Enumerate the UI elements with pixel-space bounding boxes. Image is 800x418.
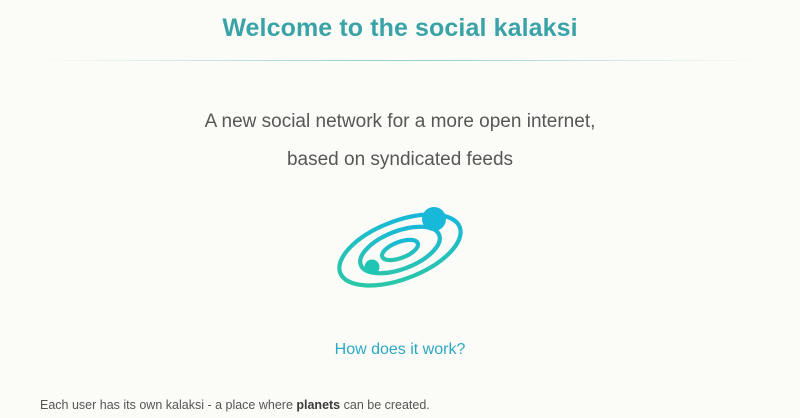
small-planet-icon — [365, 260, 380, 275]
header-divider — [30, 60, 770, 61]
subtitle: A new social network for a more open int… — [0, 103, 800, 179]
large-planet-icon — [422, 207, 446, 231]
blurb-prefix: Each user has its own kalaksi - a place … — [40, 398, 296, 412]
orbit-ring-outer — [330, 200, 470, 300]
logo-container — [0, 198, 800, 302]
kalaksi-description: Each user has its own kalaksi - a place … — [40, 396, 760, 414]
howto-container: How does it work? — [0, 341, 800, 359]
how-does-it-work-link[interactable]: How does it work? — [335, 341, 466, 358]
orbit-ring-inner — [379, 236, 420, 265]
blurb-suffix: can be created. — [340, 398, 430, 412]
subtitle-line-1: A new social network for a more open int… — [0, 103, 800, 141]
page-title: Welcome to the social kalaksi — [0, 12, 800, 44]
blurb-emphasis: planets — [296, 398, 340, 412]
welcome-page: Welcome to the social kalaksi A new soci… — [0, 0, 800, 418]
subtitle-line-2: based on syndicated feeds — [0, 141, 800, 179]
kalaksi-galaxy-icon — [325, 198, 475, 302]
